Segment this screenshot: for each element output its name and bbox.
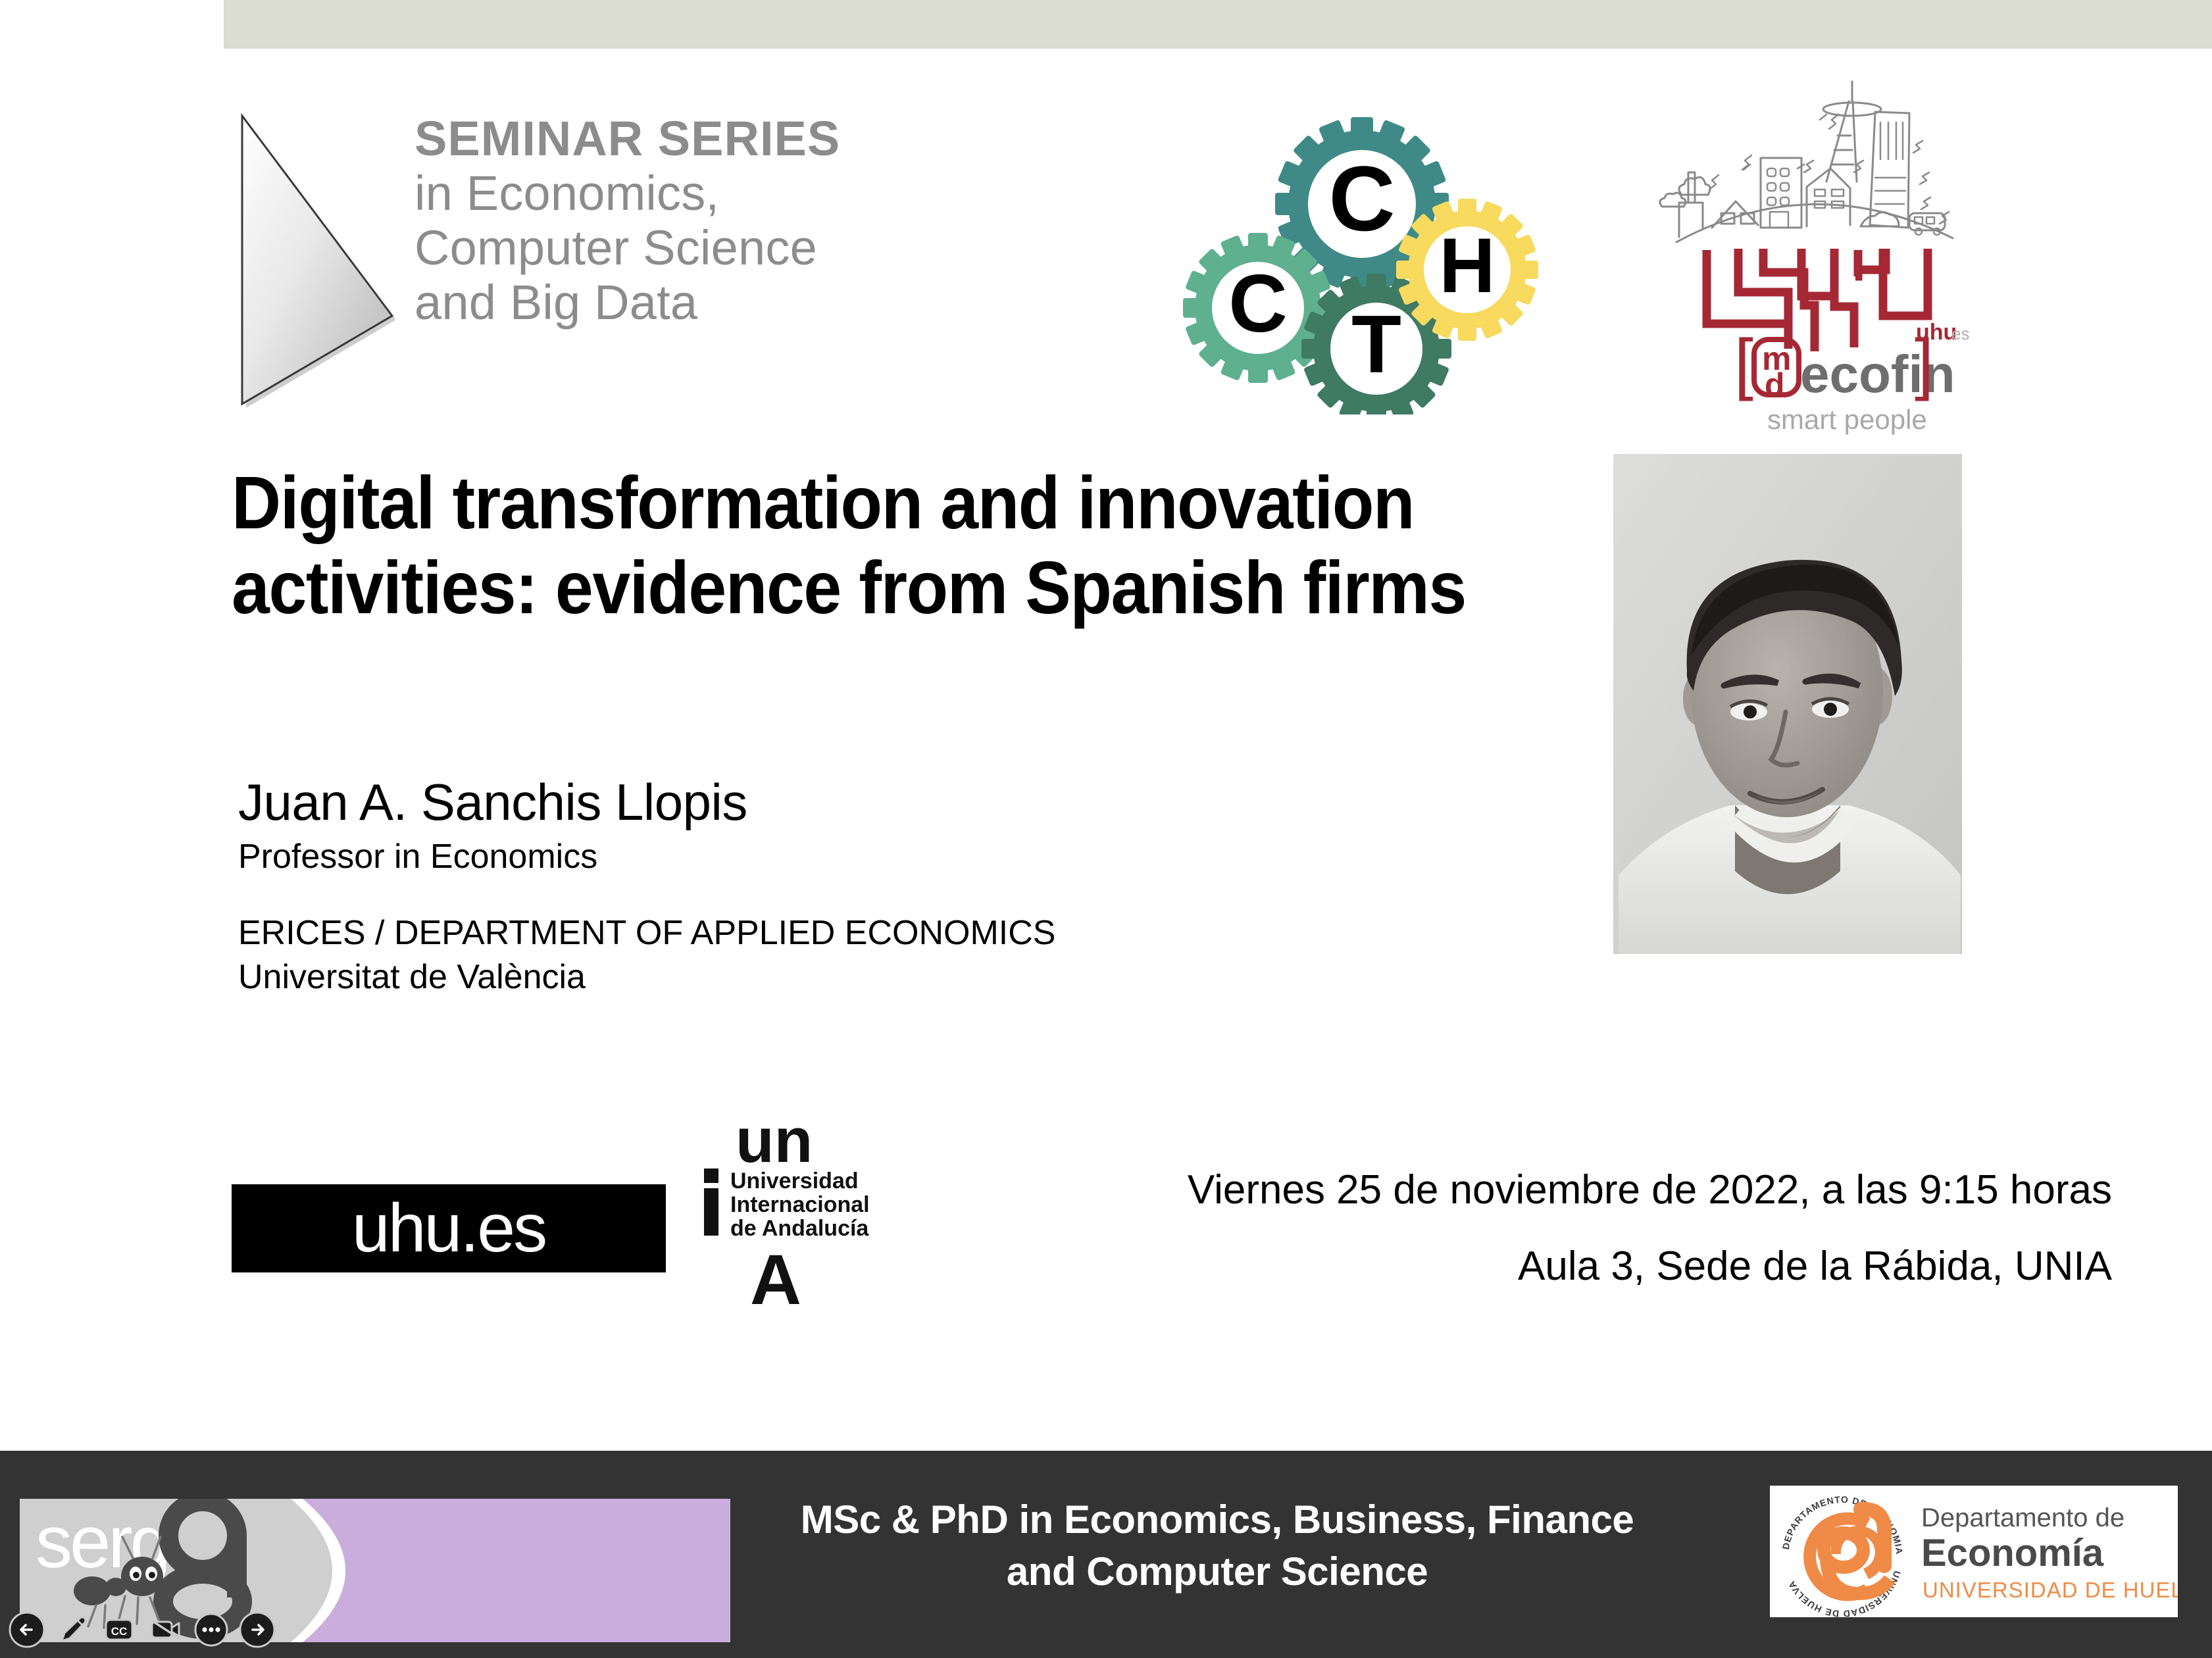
- svg-text:es: es: [1951, 324, 1969, 343]
- speaker-university: Universitat de València: [238, 955, 1620, 999]
- seminar-series-text: SEMINAR SERIES in Economics, Computer Sc…: [415, 112, 840, 330]
- svg-text:[: [: [1734, 326, 1753, 402]
- next-slide-icon[interactable]: [237, 1609, 278, 1650]
- pen-icon[interactable]: [53, 1609, 93, 1650]
- series-line-1: SEMINAR SERIES: [415, 112, 840, 166]
- svg-text:UNIVERSIDAD DE HUELVA: UNIVERSIDAD DE HUELVA: [1923, 1578, 2178, 1602]
- svg-text:Economía: Economía: [1921, 1532, 2104, 1574]
- programme-line-2: and Computer Science: [724, 1545, 1711, 1597]
- programme-line-1: MSc & PhD in Economics, Business, Financ…: [724, 1494, 1711, 1545]
- presentation-toolbar[interactable]: CC: [0, 1601, 289, 1658]
- speaker-name: Juan A. Sanchis Llopis: [238, 773, 1620, 832]
- speaker-department: ERICES / DEPARTMENT OF APPLIED ECONOMICS: [238, 911, 1620, 955]
- md-ecofin-logo: [ m d ecofin ] uhu es smart people: [1638, 72, 1987, 447]
- svg-text:smart people: smart people: [1767, 404, 1927, 435]
- series-line-3: Computer Science: [415, 221, 840, 276]
- svg-text:Departamento de: Departamento de: [1921, 1503, 2124, 1532]
- event-venue: Aula 3, Sede de la Rábida, UNIA: [763, 1241, 2112, 1292]
- play-triangle-icon: [230, 112, 395, 408]
- camera-off-icon[interactable]: [145, 1609, 186, 1650]
- more-options-icon[interactable]: [191, 1609, 232, 1650]
- event-datetime: Viernes 25 de noviembre de 2022, a las 9…: [763, 1165, 2112, 1216]
- series-line-4: and Big Data: [415, 276, 840, 330]
- svg-text:d: d: [1765, 366, 1785, 403]
- closed-captions-icon[interactable]: CC: [99, 1609, 139, 1650]
- ccth-gears-logo: C: [1158, 99, 1540, 414]
- page-title: Digital transformation and innovation ac…: [232, 461, 1478, 630]
- svg-text:CC: CC: [111, 1625, 128, 1638]
- speaker-portrait: [1613, 454, 1962, 954]
- svg-text:H: H: [1439, 222, 1495, 309]
- previous-slide-icon[interactable]: [7, 1609, 47, 1650]
- svg-text:uhu: uhu: [1916, 320, 1957, 345]
- departamento-economia-logo: DEPARTAMENTO DE ECONOMIA UNIVERSIDAD DE …: [1770, 1486, 2178, 1617]
- svg-text:C: C: [1228, 259, 1288, 349]
- series-line-2: in Economics,: [415, 166, 840, 221]
- event-details: Viernes 25 de noviembre de 2022, a las 9…: [763, 1165, 2112, 1292]
- uhu-es-logo-text: uhu.es: [352, 1190, 545, 1268]
- svg-text:C: C: [1328, 147, 1395, 250]
- svg-text:T: T: [1351, 299, 1401, 390]
- presentation-slide: SEMINAR SERIES in Economics, Computer Sc…: [0, 0, 2212, 1658]
- programme-text: MSc & PhD in Economics, Business, Financ…: [724, 1494, 1711, 1597]
- top-accent-bar: [224, 0, 2212, 49]
- speaker-block: Juan A. Sanchis Llopis Professor in Econ…: [238, 773, 1620, 999]
- speaker-role: Professor in Economics: [238, 836, 1620, 877]
- seminar-series-header: SEMINAR SERIES in Economics, Computer Sc…: [230, 112, 840, 408]
- uhu-es-logo: uhu.es: [232, 1184, 666, 1272]
